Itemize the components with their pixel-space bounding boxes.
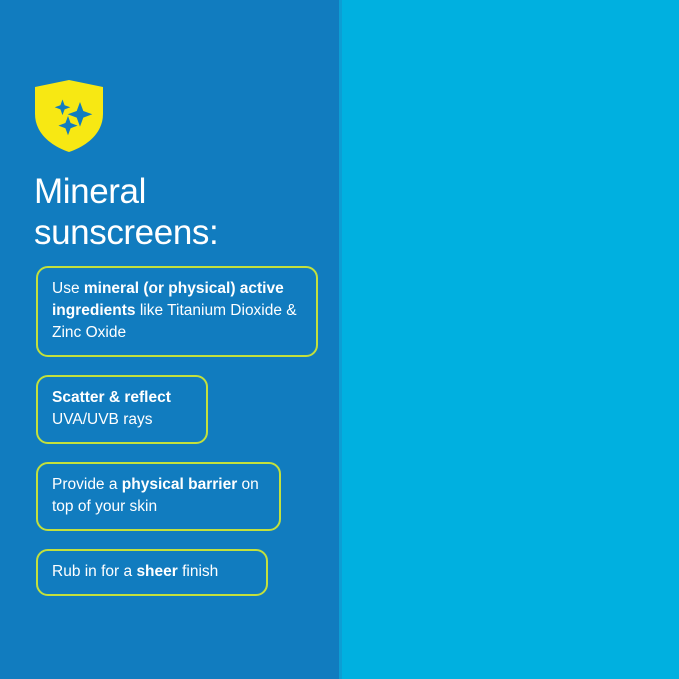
page-title-mineral: Mineral sunscreens: (34, 172, 218, 253)
mineral-facts-list: Use mineral (or physical) active ingredi… (36, 266, 318, 596)
fact-box-scatter-reflect: Scatter & reflectUVA/UVB rays (36, 375, 208, 444)
panel-divider (339, 0, 342, 679)
fact-text: Provide a physical barrier on top of you… (52, 474, 265, 518)
fact-text: Use mineral (or physical) active ingredi… (52, 278, 302, 344)
fact-box-sheer-finish: Rub in for a sheer finish (36, 549, 268, 596)
mineral-sunscreen-panel: Mineral sunscreens: Use mineral (or phys… (0, 0, 339, 679)
fact-box-active-ingredients: Use mineral (or physical) active ingredi… (36, 266, 318, 357)
fact-box-physical-barrier: Provide a physical barrier on top of you… (36, 462, 281, 531)
fact-text: Rub in for a sheer finish (52, 561, 252, 583)
chemical-sunscreen-panel: Chemical sunscreens: Use chemical(aka tr… (339, 0, 679, 679)
sunscreen-comparison-infographic: Mineral sunscreens: Use mineral (or phys… (0, 0, 679, 679)
fact-text: Scatter & reflectUVA/UVB rays (52, 387, 192, 431)
shield-sparkle-icon (35, 80, 103, 152)
